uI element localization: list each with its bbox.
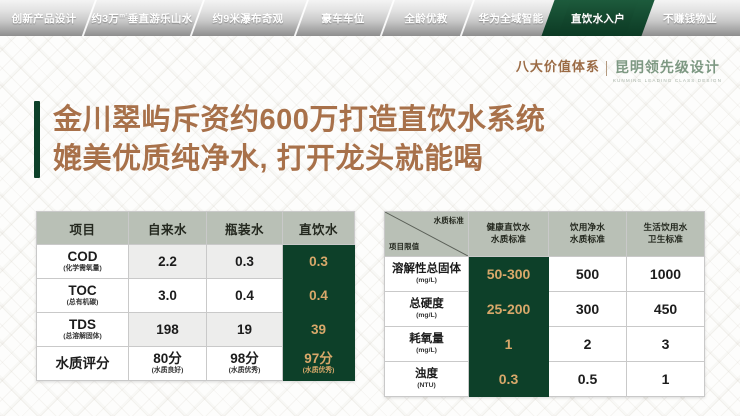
cell-value: 50-300 [469,266,548,282]
cell-bottled-water: 19 [207,313,283,347]
header-line-2: 卫生标准 [627,234,704,246]
nav-tab-superscript: m² [119,12,128,19]
nav-tab-label: 全龄优教 [404,11,447,26]
cell-purified-standard: 300 [549,292,627,327]
cell-value: 80分 [129,351,206,366]
nav-tab-1[interactable]: 创新产品设计 [0,0,88,36]
headline-line-1: 金川翠屿斥资约600万打造直饮水系统 [53,101,545,140]
cell-parameter-label: 耗氧量(mg/L) [385,327,469,362]
cell-purified-standard: 0.5 [549,362,627,397]
cell-subtext: (化学需氧量) [37,265,128,273]
cell-value: 总硬度 [385,298,468,311]
cell-value: 0.5 [549,371,626,387]
cell-value: 1 [627,371,704,387]
cell-value: 0.4 [207,288,282,303]
cell-value: TOC [37,283,128,298]
headline-accent-bar [34,101,40,178]
col-header-purified: 饮用净水 水质标准 [549,212,627,257]
cell-tap-water: 198 [129,313,207,347]
col-header-tap: 自来水 [129,212,207,245]
cell-value: COD [37,249,128,264]
header-line-1: 健康直饮水 [469,222,548,234]
cell-healthy-direct-standard: 50-300 [469,257,549,292]
header-line-2: 水质标准 [469,234,548,246]
nav-tab-label: 豪车车位 [321,11,364,26]
cell-healthy-direct-standard: 25-200 [469,292,549,327]
cell-parameter-label: 浊度(NTU) [385,362,469,397]
cell-purified-standard: 2 [549,327,627,362]
cell-value: 198 [129,322,206,337]
col-header-item: 项目 [37,212,129,245]
headline-block: 金川翠屿斥资约600万打造直饮水系统 媲美优质纯净水, 打开龙头就能喝 [34,101,545,178]
cell-value: 300 [549,301,626,317]
cell-value: 0.3 [283,254,354,269]
cell-value: TDS [37,317,128,332]
col-header-domestic: 生活饮用水 卫生标准 [627,212,705,257]
cell-value: 97分 [283,351,354,366]
cell-domestic-standard: 1000 [627,257,705,292]
cell-value: 1 [469,336,548,352]
nav-tab-label: 约9米瀑布奇观 [213,11,284,26]
table-right-header-row: 水质标准 项目限值 健康直饮水 水质标准 饮用净水 水质标准 生活饮用水 卫生标… [385,212,705,257]
cell-direct-water: 0.4 [283,279,355,313]
nav-tab-2[interactable]: 约3万m²垂直游乐山水 [88,0,196,36]
cell-tap-water: 3.0 [129,279,207,313]
corner-label-limit: 项目限值 [389,242,419,252]
table-row: 水质评分80分(水质良好)98分(水质优秀)97分(水质优秀) [37,347,355,381]
cell-subtext: (总有机碳) [37,299,128,307]
top-navigation-bar: 创新产品设计约3万m²垂直游乐山水约9米瀑布奇观豪车车位全龄优教华为全域智能直饮… [0,0,740,36]
cell-item-label: TDS(总溶解固体) [37,313,129,347]
table-row: 耗氧量(mg/L)123 [385,327,705,362]
cell-direct-water: 97分(水质优秀) [283,347,355,381]
cell-unit: (NTU) [385,382,468,390]
cell-parameter-label: 溶解性总固体(mg/L) [385,257,469,292]
cell-direct-water: 0.3 [283,245,355,279]
nav-tab-label: 创新产品设计 [12,11,77,26]
cell-value: 浊度 [385,368,468,381]
cell-value: 19 [207,322,282,337]
table-left-header-row: 项目 自来水 瓶装水 直饮水 [37,212,355,245]
cell-value: 3.0 [129,288,206,303]
cell-subtext: (总溶解固体) [37,333,128,341]
corner-diagonal-header: 水质标准 项目限值 [385,212,469,257]
brand-lockup: 八大价值体系 昆明领先级设计 KUNMING LEADING CLASS DES… [516,60,722,83]
cell-tap-water: 80分(水质良好) [129,347,207,381]
nav-tab-7[interactable]: 直饮水入户 [556,0,640,36]
table-row: TDS(总溶解固体)1981939 [37,313,355,347]
cell-item-label: COD(化学需氧量) [37,245,129,279]
header-line-2: 水质标准 [549,234,626,246]
cell-value: 0.3 [469,371,548,387]
col-header-bottled: 瓶装水 [207,212,283,245]
brand-divider [606,61,607,76]
cell-domestic-standard: 1 [627,362,705,397]
cell-value: 3 [627,336,704,352]
cell-value: 39 [283,322,354,337]
nav-tab-5[interactable]: 全龄优教 [386,0,466,36]
cell-value: 2.2 [129,254,206,269]
nav-tab-3[interactable]: 约9米瀑布奇观 [196,0,300,36]
nav-tab-label: 约3万m²垂直游乐山水 [91,11,192,26]
water-standards-table: 水质标准 项目限值 健康直饮水 水质标准 饮用净水 水质标准 生活饮用水 卫生标… [384,211,705,397]
cell-purified-standard: 500 [549,257,627,292]
cell-healthy-direct-standard: 1 [469,327,549,362]
table-row: 浊度(NTU)0.30.51 [385,362,705,397]
cell-tap-water: 2.2 [129,245,207,279]
cell-subtext: (水质优秀) [283,367,354,375]
cell-bottled-water: 0.4 [207,279,283,313]
col-header-direct: 直饮水 [283,212,355,245]
cell-domestic-standard: 450 [627,292,705,327]
cell-value: 0.4 [283,288,354,303]
cell-value: 25-200 [469,301,548,317]
cell-value: 耗氧量 [385,333,468,346]
cell-value: 98分 [207,351,282,366]
headline-line-2: 媲美优质纯净水, 打开龙头就能喝 [53,140,545,179]
col-header-healthy-direct: 健康直饮水 水质标准 [469,212,549,257]
cell-value: 1000 [627,266,704,282]
nav-tab-label: 不赚钱物业 [663,11,717,26]
table-row: 溶解性总固体(mg/L)50-3005001000 [385,257,705,292]
table-row: TOC(总有机碳)3.00.40.4 [37,279,355,313]
cell-healthy-direct-standard: 0.3 [469,362,549,397]
cell-value: 水质评分 [37,356,128,371]
nav-tab-4[interactable]: 豪车车位 [300,0,386,36]
table-row: 总硬度(mg/L)25-200300450 [385,292,705,327]
cell-bottled-water: 0.3 [207,245,283,279]
water-comparison-table: 项目 自来水 瓶装水 直饮水 COD(化学需氧量)2.20.30.3TOC(总有… [36,211,355,381]
cell-item-label: 水质评分 [37,347,129,381]
cell-value: 0.3 [207,254,282,269]
cell-domestic-standard: 3 [627,327,705,362]
cell-item-label: TOC(总有机碳) [37,279,129,313]
brand-right-english: KUNMING LEADING CLASS DESIGN [613,78,722,83]
slide-canvas: 创新产品设计约3万m²垂直游乐山水约9米瀑布奇观豪车车位全龄优教华为全域智能直饮… [0,0,740,416]
cell-direct-water: 39 [283,313,355,347]
nav-tab-label: 华为全域智能 [479,11,544,26]
cell-unit: (mg/L) [385,347,468,355]
cell-parameter-label: 总硬度(mg/L) [385,292,469,327]
cell-bottled-water: 98分(水质优秀) [207,347,283,381]
cell-value: 500 [549,266,626,282]
cell-subtext: (水质良好) [129,367,206,375]
table-row: COD(化学需氧量)2.20.30.3 [37,245,355,279]
cell-value: 450 [627,301,704,317]
brand-right-label: 昆明领先级设计 [615,60,720,75]
cell-unit: (mg/L) [385,312,468,320]
brand-left-label: 八大价值体系 [516,60,600,75]
header-line-1: 饮用净水 [549,222,626,234]
cell-value: 溶解性总固体 [385,263,468,276]
corner-label-standard: 水质标准 [434,216,464,226]
cell-subtext: (水质优秀) [207,367,282,375]
cell-value: 2 [549,336,626,352]
nav-tab-label: 直饮水入户 [571,11,625,26]
header-line-1: 生活饮用水 [627,222,704,234]
nav-tab-8[interactable]: 不赚钱物业 [640,0,740,36]
cell-unit: (mg/L) [385,277,468,285]
